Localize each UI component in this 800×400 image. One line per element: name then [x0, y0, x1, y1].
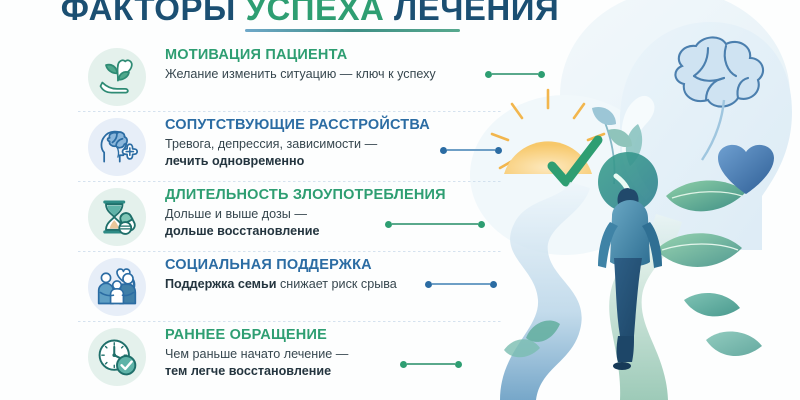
connector-dot-end: [538, 71, 545, 78]
infographic-canvas: ФАКТОРЫ УСПЕХА ЛЕЧЕНИЯ МОТИВАЦИЯ ПАЦИЕНТ…: [0, 0, 800, 400]
item-heading: МОТИВАЦИЯ ПАЦИЕНТА: [165, 46, 485, 64]
item-subtext-regular: Желание изменить ситуацию — ключ к успех…: [165, 67, 436, 81]
item-subtext-regular: снижает риск срыва: [276, 277, 396, 291]
list-item[interactable]: МОТИВАЦИЯ ПАЦИЕНТА Желание изменить ситу…: [0, 42, 520, 112]
connector-dot-end: [455, 361, 462, 368]
connector-segment: [392, 223, 478, 225]
list-item[interactable]: ДЛИТЕЛЬНОСТЬ ЗЛОУПОТРЕБЛЕНИЯ Дольше и вы…: [0, 182, 520, 252]
item-heading: СОПУТСТВУЮЩИЕ РАССТРОЙСТВА: [165, 116, 485, 134]
item-subtext-bold-lead: Поддержка семьи: [165, 277, 276, 291]
item-subtext: Желание изменить ситуацию — ключ к успех…: [165, 66, 485, 83]
title-underline: [245, 29, 460, 32]
connector-segment: [492, 73, 538, 75]
hand-plant-heart-icon: [88, 48, 146, 106]
page-title: ФАКТОРЫ УСПЕХА ЛЕЧЕНИЯ: [0, 0, 620, 28]
item-subtext: Тревога, депрессия, зависимости — лечить…: [165, 136, 485, 169]
connector-line: [440, 146, 502, 154]
title-part-1: ФАКТОРЫ: [61, 0, 246, 27]
connector-line: [385, 220, 485, 228]
connector-line: [400, 360, 462, 368]
title-part-3: ЛЕЧЕНИЯ: [394, 0, 559, 27]
title-part-2: УСПЕХА: [245, 0, 394, 27]
item-heading: СОЦИАЛЬНАЯ ПОДДЕРЖКА: [165, 256, 485, 274]
item-heading: ДЛИТЕЛЬНОСТЬ ЗЛОУПОТРЕБЛЕНИЯ: [165, 186, 485, 204]
factors-list: МОТИВАЦИЯ ПАЦИЕНТА Желание изменить ситу…: [0, 42, 520, 392]
connector-dot-start: [425, 281, 432, 288]
item-subtext-regular: Тревога, депрессия, зависимости —: [165, 137, 377, 151]
clock-check-icon: [88, 328, 146, 386]
head-brain-plus-icon: [88, 118, 146, 176]
family-heart-icon: [88, 258, 146, 316]
connector-segment: [407, 363, 455, 365]
connector-dot-end: [478, 221, 485, 228]
connector-segment: [447, 149, 495, 151]
list-item[interactable]: СОПУТСТВУЮЩИЕ РАССТРОЙСТВА Тревога, депр…: [0, 112, 520, 182]
connector-dot-start: [440, 147, 447, 154]
connector-line: [485, 70, 545, 78]
connector-dot-end: [490, 281, 497, 288]
connector-dot-start: [400, 361, 407, 368]
connector-dot-start: [385, 221, 392, 228]
item-heading: РАННЕЕ ОБРАЩЕНИЕ: [165, 326, 485, 344]
list-item[interactable]: РАННЕЕ ОБРАЩЕНИЕ Чем раньше начато лечен…: [0, 322, 520, 392]
item-subtext-regular: Чем раньше начато лечение —: [165, 347, 348, 361]
item-subtext-regular: Дольше и выше дозы —: [165, 207, 307, 221]
connector-dot-end: [495, 147, 502, 154]
list-item[interactable]: СОЦИАЛЬНАЯ ПОДДЕРЖКА Поддержка семьи сни…: [0, 252, 520, 322]
connector-segment: [432, 283, 490, 285]
item-subtext-bold: дольше восстановление: [165, 224, 319, 238]
item-subtext-bold: тем легче восстановление: [165, 364, 331, 378]
connector-dot-start: [485, 71, 492, 78]
connector-line: [425, 280, 497, 288]
item-subtext-bold: лечить одновременно: [165, 154, 304, 168]
hourglass-pill-icon: [88, 188, 146, 246]
